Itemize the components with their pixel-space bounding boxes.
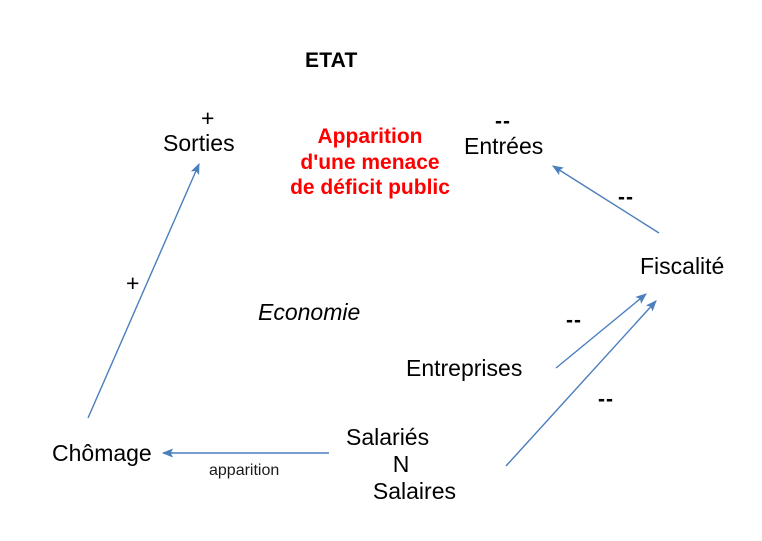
node-salaries: Salariés [346, 424, 456, 451]
page-title: ETAT [305, 49, 358, 74]
highlight-line-3: de déficit public [290, 176, 450, 199]
diagram-canvas: ETAT + Sorties Apparition d'une menace d… [0, 0, 762, 541]
sign-fiscalite-entrees-minus: -- [618, 186, 634, 210]
highlight-deficit-warning: Apparition d'une menace de déficit publi… [275, 124, 465, 201]
sign-entreprises-fiscalite-minus: -- [566, 309, 582, 333]
node-sorties: Sorties [163, 130, 235, 157]
highlight-line-1: Apparition [318, 125, 423, 148]
sign-salaires-fiscalite-minus: -- [598, 388, 614, 412]
node-fiscalite: Fiscalité [640, 253, 724, 280]
node-salaries-group: Salariés N Salaires [346, 424, 456, 505]
sign-sorties-plus: + [201, 105, 215, 132]
sign-chomage-sorties-plus: + [126, 270, 140, 297]
node-n: N [346, 451, 456, 478]
edge-label-apparition: apparition [209, 462, 279, 480]
node-entrees: Entrées [464, 133, 543, 160]
sign-entrees-minus: -- [495, 110, 511, 134]
node-salaires: Salaires [346, 478, 456, 505]
node-economie: Economie [258, 299, 360, 326]
arrow-fiscalite-to-entrees [553, 166, 659, 233]
arrow-chomage-to-sorties [88, 164, 199, 418]
node-chomage: Chômage [52, 440, 152, 467]
highlight-line-2: d'une menace [300, 151, 439, 174]
node-entreprises: Entreprises [406, 355, 522, 382]
